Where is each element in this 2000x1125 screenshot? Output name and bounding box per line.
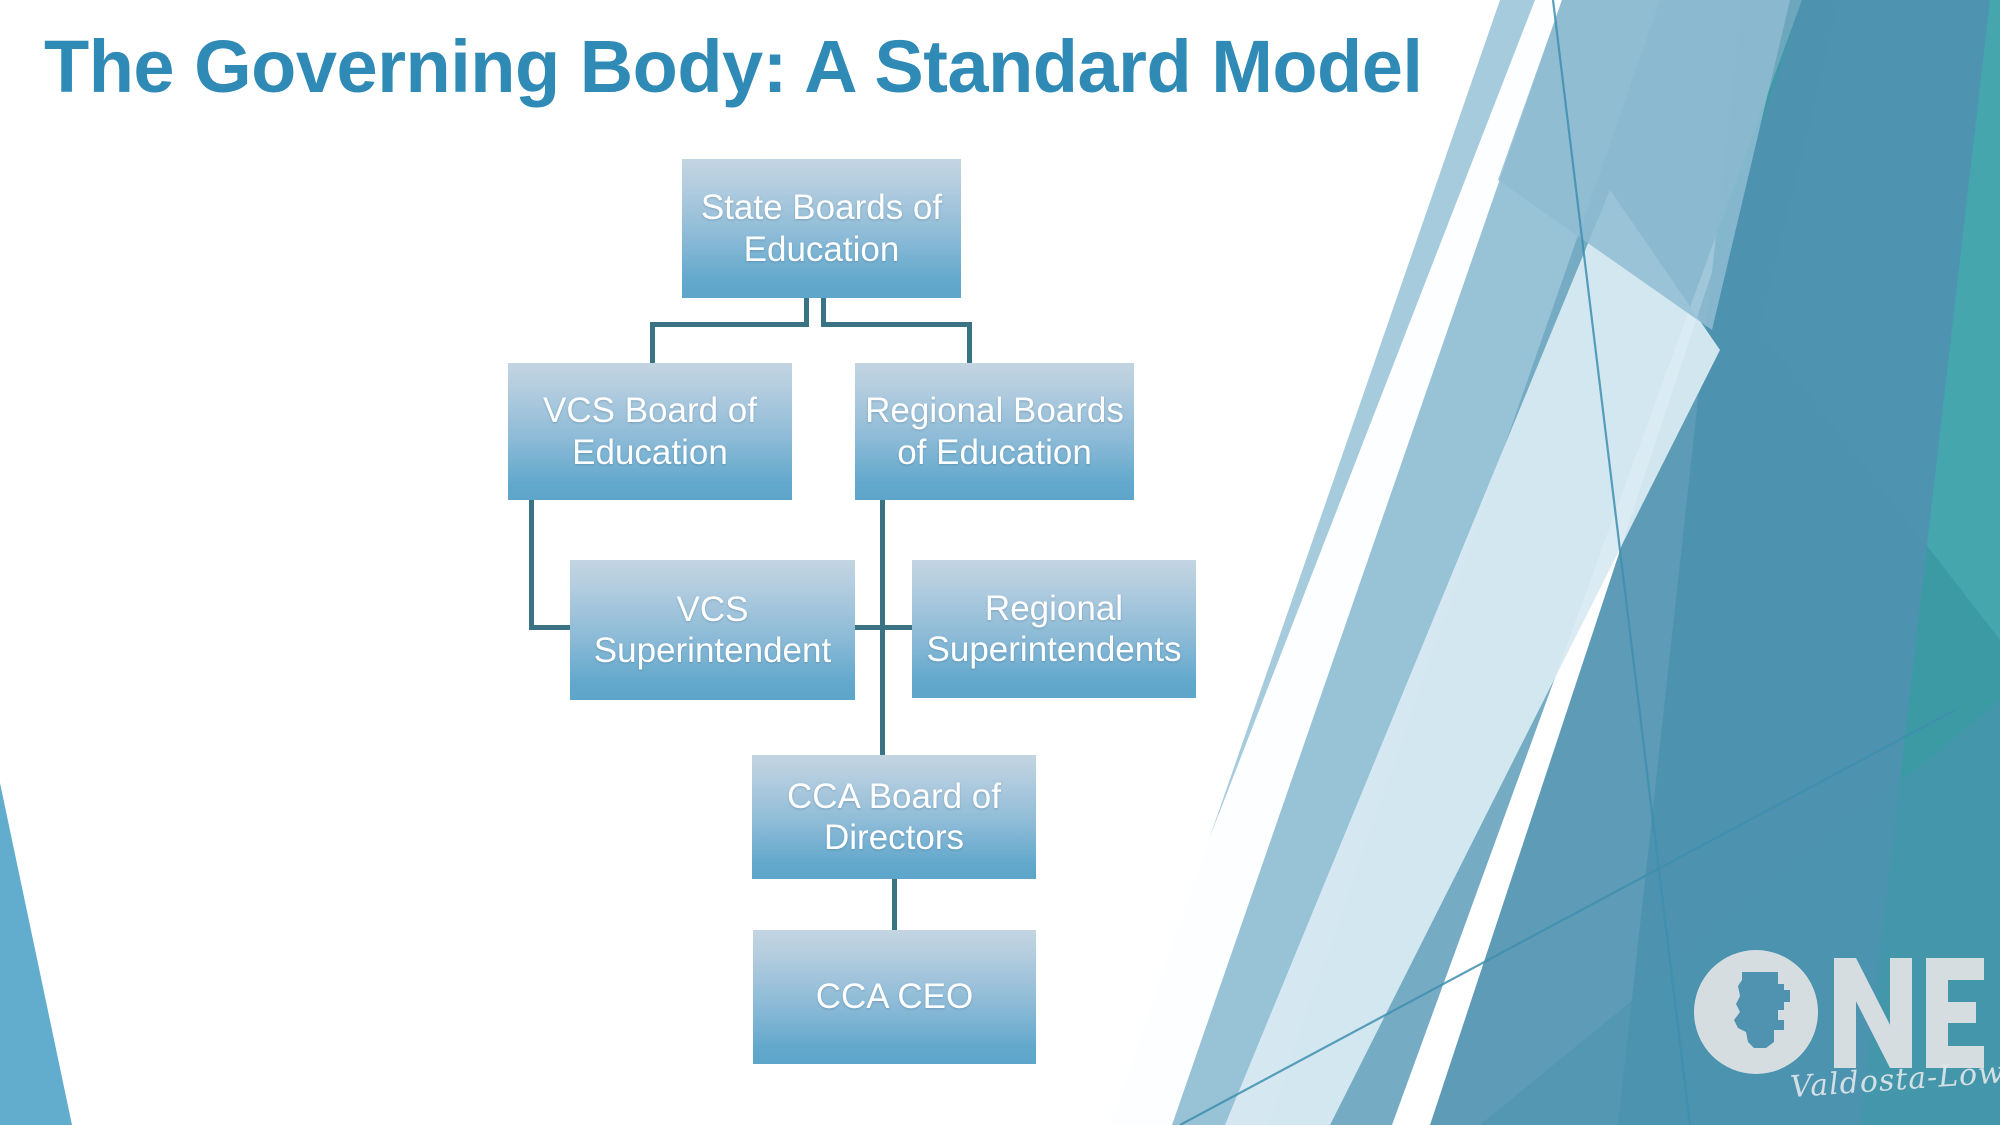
- connector-state-to-regional-horizontal: [821, 322, 972, 327]
- connector-vcsboard-to-vcssuper-drop: [529, 500, 534, 630]
- one-logo: [1694, 948, 1986, 1076]
- connector-state-to-vcs-drop: [650, 322, 655, 366]
- org-node-label: CCA Board of Directors: [762, 776, 1026, 859]
- logo-o-mark: [1694, 950, 1818, 1074]
- org-node-regional-superintendents[interactable]: Regional Superintendents: [912, 560, 1196, 698]
- connector-state-to-regional-drop: [967, 322, 972, 366]
- org-node-cca-board-of-directors[interactable]: CCA Board of Directors: [752, 755, 1036, 879]
- org-node-label: State Boards of Education: [692, 187, 951, 270]
- org-node-regional-boards[interactable]: Regional Boards of Education: [855, 363, 1134, 500]
- org-node-label: Regional Boards of Education: [865, 390, 1124, 473]
- org-node-label: Regional Superintendents: [922, 588, 1186, 671]
- presentation-slide: The Governing Body: A Standard Model Sta…: [0, 0, 2000, 1125]
- connector-vcsboard-to-vcssuper-horizontal: [529, 625, 575, 630]
- org-node-label: VCS Board of Education: [518, 390, 782, 473]
- org-node-state-boards[interactable]: State Boards of Education: [682, 159, 961, 298]
- logo-letter-e: [1926, 958, 1984, 1068]
- org-node-vcs-superintendent[interactable]: VCS Superintendent: [570, 560, 855, 700]
- org-node-vcs-board[interactable]: VCS Board of Education: [508, 363, 792, 500]
- connector-ccaboard-to-ccaceo: [892, 879, 897, 932]
- connector-state-to-vcs-horizontal: [650, 322, 809, 327]
- connector-regionalboards-to-regionalsupers: [880, 625, 916, 630]
- logo-letter-n: [1834, 958, 1912, 1068]
- org-node-label: VCS Superintendent: [580, 589, 845, 672]
- org-node-label: CCA CEO: [816, 976, 974, 1017]
- org-node-cca-ceo[interactable]: CCA CEO: [753, 930, 1036, 1064]
